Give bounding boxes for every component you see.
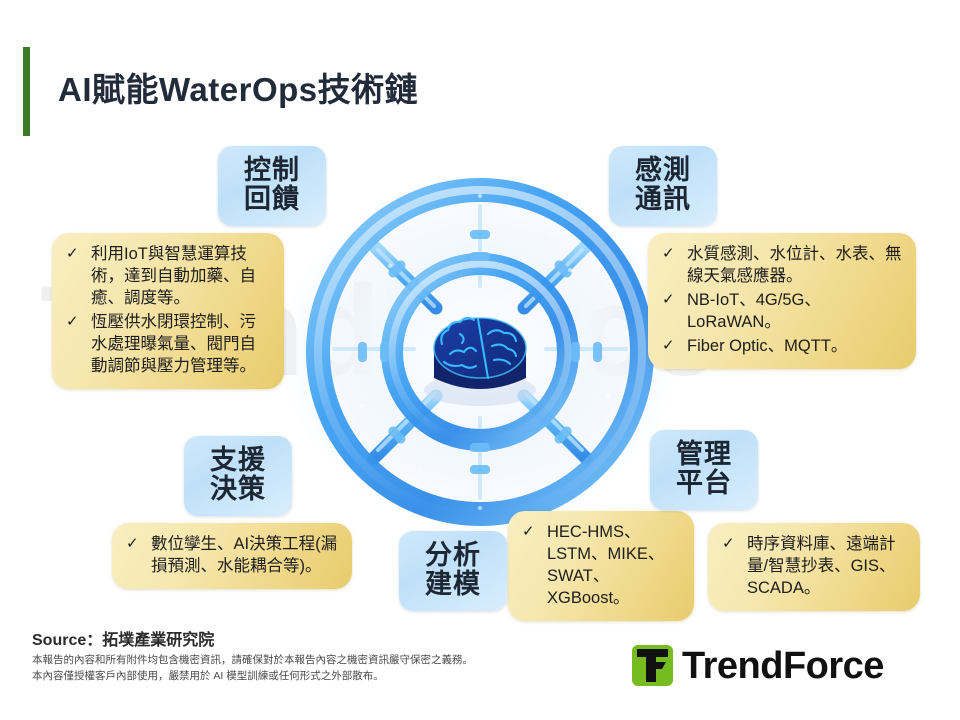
chip-line-1: 管理	[663, 440, 745, 469]
chip-sensing-comms[interactable]: 感測 通訊	[609, 146, 717, 226]
trendforce-logo: TrendForce	[632, 645, 884, 686]
bubble-item: 利用IoT與智慧運算技術，達到自動加藥、自癒、調度等。	[62, 244, 272, 310]
slide-root: TrendForce AI賦能WaterOps技術鏈	[0, 0, 960, 720]
disclaimer-line-1: 本報告的內容和所有附件均包含機密資訊，請確保對於本報告內容之機密資訊嚴守保密之義…	[32, 652, 473, 668]
bubble-list: HEC-HMS、LSTM、MIKE、SWAT、XGBoost。	[508, 511, 694, 621]
bubble-list: 時序資料庫、遠端計量/智慧抄表、GIS、SCADA。	[708, 523, 920, 611]
chip-line-1: 控制	[231, 156, 313, 185]
bubble-sensing-comms: 水質感測、水位計、水表、無線天氣感應器。 NB-IoT、4G/5G、LoRaWA…	[648, 233, 916, 369]
trendforce-logo-text: TrendForce	[682, 647, 884, 685]
bubble-item: 時序資料庫、遠端計量/智慧抄表、GIS、SCADA。	[718, 534, 908, 600]
bubble-management-platform: 時序資料庫、遠端計量/智慧抄表、GIS、SCADA。	[708, 523, 920, 611]
bubble-analysis-modeling: HEC-HMS、LSTM、MIKE、SWAT、XGBoost。	[508, 511, 694, 621]
bubble-item: 水質感測、水位計、水表、無線天氣感應器。	[658, 244, 904, 288]
bubble-control-feedback: 利用IoT與智慧運算技術，達到自動加藥、自癒、調度等。 恆壓供水閉環控制、污水處…	[52, 233, 284, 389]
bubble-item: NB-IoT、4G/5G、LoRaWAN。	[658, 290, 904, 334]
bubble-list: 利用IoT與智慧運算技術，達到自動加藥、自癒、調度等。 恆壓供水閉環控制、污水處…	[52, 233, 284, 389]
chip-control-feedback[interactable]: 控制 回饋	[218, 146, 326, 226]
bubble-list: 水質感測、水位計、水表、無線天氣感應器。 NB-IoT、4G/5G、LoRaWA…	[648, 233, 916, 369]
chip-line-2: 建模	[412, 570, 494, 599]
chip-line-1: 支援	[197, 446, 279, 475]
disclaimer: 本報告的內容和所有附件均包含機密資訊，請確保對於本報告內容之機密資訊嚴守保密之義…	[32, 652, 473, 685]
bubble-list: 數位孿生、AI決策工程(漏損預測、水能耦合等)。	[112, 523, 352, 589]
bubble-item: 數位孿生、AI決策工程(漏損預測、水能耦合等)。	[122, 534, 340, 578]
bubble-item: HEC-HMS、LSTM、MIKE、SWAT、XGBoost。	[518, 522, 682, 610]
bubble-item: 恆壓供水閉環控制、污水處理曝氣量、閥門自動調節與壓力管理等。	[62, 312, 272, 378]
bubble-decision-support: 數位孿生、AI決策工程(漏損預測、水能耦合等)。	[112, 523, 352, 589]
trendforce-logo-mark	[632, 645, 673, 686]
chip-line-2: 決策	[197, 475, 279, 504]
disclaimer-line-2: 本內容僅授權客戶內部使用，嚴禁用於 AI 模型訓練或任何形式之外部散布。	[32, 668, 473, 684]
chip-decision-support[interactable]: 支援 決策	[184, 436, 292, 516]
bubble-item: Fiber Optic、MQTT。	[658, 336, 904, 358]
chip-management-platform[interactable]: 管理 平台	[650, 430, 758, 510]
chip-line-2: 平台	[663, 469, 745, 498]
chip-line-1: 感測	[622, 156, 704, 185]
title-accent-bar	[23, 47, 30, 136]
chip-line-2: 通訊	[622, 185, 704, 214]
chip-line-1: 分析	[412, 541, 494, 570]
page-title: AI賦能WaterOps技術鏈	[58, 63, 418, 111]
chip-analysis-modeling[interactable]: 分析 建模	[399, 531, 507, 611]
source-label: Source：拓墣產業研究院	[32, 626, 214, 650]
chip-line-2: 回饋	[231, 185, 313, 214]
